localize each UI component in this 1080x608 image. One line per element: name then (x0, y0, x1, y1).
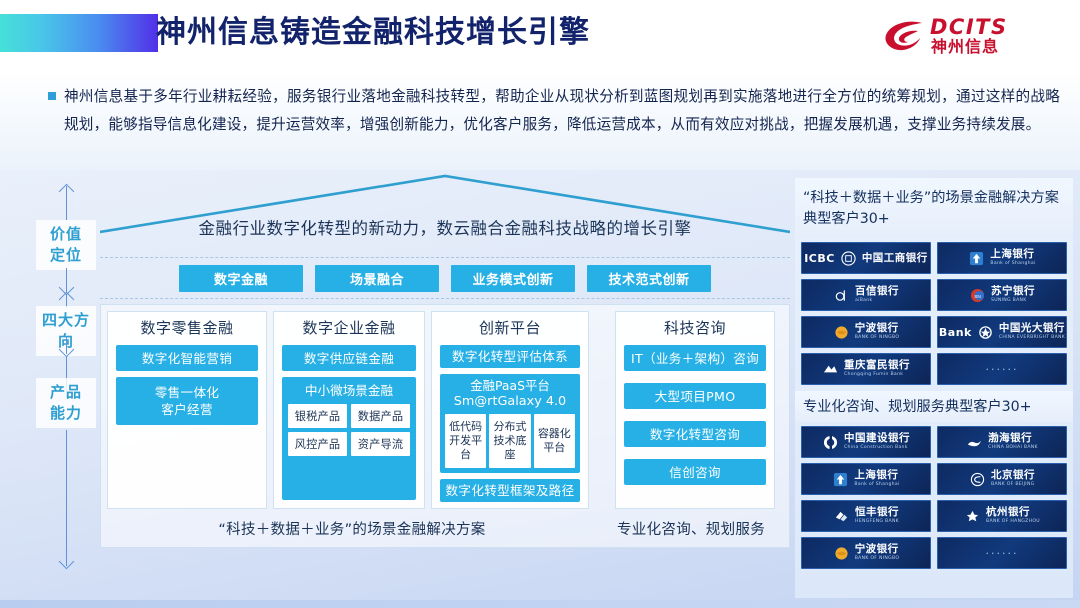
item-line-2: 客户经营 (161, 401, 213, 418)
logo-name-cn: 恒丰银行 (855, 507, 899, 518)
chip-tech-paradigm-innovation[interactable]: 技术范式创新 (587, 265, 711, 292)
paas-title-line1: 金融PaaS平台 (445, 378, 575, 394)
intro-paragraph: 神州信息基于多年行业耕耘经验，服务银行业落地金融科技转型，帮助企业从现状分析到蓝… (64, 83, 1060, 139)
bank-of-beijing-logo-icon (969, 471, 986, 488)
chip-scenario-fusion[interactable]: 场景融合 (315, 265, 439, 292)
value-proposition-band: 金融行业数字化转型的新动力，数云融合金融科技战略的增长引擎 (100, 196, 790, 258)
rail-label-value: 价值定位 (36, 220, 96, 270)
suning-bank-logo-icon: SN (969, 287, 986, 304)
customer-logo-ccb-logo-icon: 中国建设银行China Construction Bank (801, 426, 931, 458)
dcits-wordmark: DCITS (930, 16, 1008, 38)
logo-name-cn: 杭州银行 (986, 507, 1040, 518)
customer-logo-bohai-bank-logo-icon: 渤海银行CHINA BOHAI BANK (937, 426, 1067, 458)
logo-name-en: Chongqing Fumin Bank (844, 373, 910, 378)
logo-text-block: 宁波银行BANK OF NINGBO (855, 544, 900, 561)
logo-text-block: 中国工商银行 (862, 253, 928, 264)
main-diagram: 价值定位 四大方向 产品能力 金融行业数字化转型的新动力，数云融合金融科技战略的… (0, 170, 1080, 608)
dcits-logo: DCITS 神州信息 (882, 16, 1042, 60)
column-title: 数字企业金融 (282, 318, 416, 338)
customer-heading-1: “科技＋数据＋业务”的场景金融解决方案典型客户30+ (795, 178, 1073, 238)
direction-chip-row: 数字金融 场景融合 业务模式创新 技术范式创新 (100, 259, 790, 299)
ellipsis-icon: ······ (986, 363, 1019, 376)
bullet-icon (48, 92, 56, 100)
logo-name-cn: 百信银行 (855, 286, 899, 297)
caption-scenario-solution: “科技＋数据＋业务”的场景金融解决方案 (107, 513, 597, 543)
logo-text-block: 中国建设银行China Construction Bank (844, 433, 910, 450)
value-proposition-text: 金融行业数字化转型的新动力，数云融合金融科技战略的增长引擎 (199, 215, 692, 239)
chip-business-model-innovation[interactable]: 业务模式创新 (451, 265, 575, 292)
column-title: 数字零售金融 (116, 318, 258, 338)
logo-name-en: BANK OF NINGBO (855, 557, 900, 562)
logo-text-block: 中国光大银行CHINA EVERBRIGHT BANK (999, 323, 1065, 340)
item-transformation-consulting[interactable]: 数字化转型咨询 (624, 421, 766, 447)
customer-logo-ellipsis-icon: ······ (937, 353, 1067, 385)
logo-text-block: 恒丰银行HENGFENG BANK (855, 507, 899, 524)
customer-logo-bank-of-shanghai-logo-icon: 上海银行Bank of Shanghai (801, 463, 931, 495)
page-title: 神州信息铸造金融科技增长引擎 (156, 11, 590, 55)
group-title: 中小微场景金融 (288, 382, 410, 399)
capability-columns: 数字零售金融 数字化智能营销 零售一体化 客户经营 数字企业金融 数字供应链金融… (107, 311, 785, 509)
group-sme-scenario-finance: 中小微场景金融 银税产品 数据产品 风控产品 资产导流 (282, 377, 416, 500)
customer-logo-aibank-logo-icon: 百信银行aiBank (801, 279, 931, 311)
logo-name-en: BANK OF HANGZHOU (986, 520, 1040, 525)
customer-logo-bank-of-beijing-logo-icon: 北京银行BANK OF BEIJING (937, 463, 1067, 495)
customer-logo-suning-bank-logo-icon: SN苏宁银行SUNING BANK (937, 279, 1067, 311)
item-supply-chain-finance[interactable]: 数字供应链金融 (282, 345, 416, 371)
customer-logo-bank-of-ningbo-logo-icon: 宁波银行BANK OF NINGBO (801, 537, 931, 569)
item-tax-bank-product[interactable]: 银税产品 (288, 404, 347, 428)
logo-text-block: 北京银行BANK OF BEIJING (991, 470, 1035, 487)
capability-panel: 数字零售金融 数字化智能营销 零售一体化 客户经营 数字企业金融 数字供应链金融… (100, 304, 790, 548)
logo-name-en: HENGFENG BANK (855, 520, 899, 525)
logo-text-block: 上海银行Bank of Shanghai (990, 249, 1035, 266)
logo-name-cn: 北京银行 (991, 470, 1035, 481)
logo-name-en: China Construction Bank (844, 446, 910, 451)
logo-name-en: Bank of Shanghai (990, 262, 1035, 267)
logo-name-cn: 渤海银行 (988, 433, 1038, 444)
rail-label-capability: 产品能力 (36, 378, 96, 428)
logo-text-block: 宁波银行BANK OF NINGBO (855, 323, 900, 340)
chongqing-fumin-bank-logo-icon (822, 361, 839, 378)
customer-logo-everbright-bank-logo-icon: Bank中国光大银行CHINA EVERBRIGHT BANK (937, 316, 1067, 348)
everbright-bank-logo-icon (977, 324, 994, 341)
item-smart-marketing[interactable]: 数字化智能营销 (116, 345, 258, 371)
logo-name-cn: 中国光大银行 (999, 323, 1065, 334)
item-asset-routing[interactable]: 资产导流 (351, 432, 410, 456)
column-digital-retail-finance: 数字零售金融 数字化智能营销 零售一体化 客户经营 (107, 311, 267, 509)
item-it-consulting[interactable]: IT（业务＋架构）咨询 (624, 345, 766, 371)
ellipsis-icon: ······ (986, 547, 1019, 560)
customer-logo-chongqing-fumin-bank-logo-icon: 重庆富民银行Chongqing Fumin Bank (801, 353, 931, 385)
logo-name-en: aiBank (855, 299, 899, 304)
logo-text-block: 百信银行aiBank (855, 286, 899, 303)
column-innovation-platform: 创新平台 数字化转型评估体系 金融PaaS平台 Sm@rtGalaxy 4.0 … (431, 311, 589, 509)
hengfeng-bank-logo-icon (833, 508, 850, 525)
logo-name-cn: 中国工商银行 (862, 253, 928, 264)
logo-name-cn: 苏宁银行 (991, 286, 1035, 297)
item-distributed-base[interactable]: 分布式技术底座 (489, 414, 530, 468)
logo-text-block: 苏宁银行SUNING BANK (991, 286, 1035, 303)
column-title: 创新平台 (440, 318, 580, 338)
logo-text-block: 上海银行Bank of Shanghai (854, 470, 899, 487)
rail-arrow-up-1 (59, 184, 75, 200)
group-financial-paas: 金融PaaS平台 Sm@rtGalaxy 4.0 低代码开发平台 分布式技术底座… (440, 374, 580, 473)
logo-text-block: 重庆富民银行Chongqing Fumin Bank (844, 360, 910, 377)
column-digital-enterprise-finance: 数字企业金融 数字供应链金融 中小微场景金融 银税产品 数据产品 风控产品 资产… (273, 311, 425, 509)
logo-name-en: BANK OF BEIJING (991, 483, 1035, 488)
logo-name-cn: 宁波银行 (855, 544, 900, 555)
item-lowcode-platform[interactable]: 低代码开发平台 (445, 414, 486, 468)
intro-section: 神州信息基于多年行业耕耘经验，服务银行业落地金融科技转型，帮助企业从现状分析到蓝… (0, 72, 1080, 172)
logo-name-en: BANK OF NINGBO (855, 336, 900, 341)
bank-of-hangzhou-logo-icon (964, 508, 981, 525)
dcits-swirl-icon (882, 18, 926, 56)
capability-captions: “科技＋数据＋业务”的场景金融解决方案 专业化咨询、规划服务 (107, 513, 785, 543)
customer-heading-2: 专业化咨询、规划服务典型客户30+ (795, 391, 1073, 422)
item-container-platform[interactable]: 容器化平台 (534, 414, 575, 468)
rail-arrow-up-2 (59, 292, 75, 308)
customer-logo-grid-1: ICBC中国工商银行上海银行Bank of Shanghai百信银行aiBank… (795, 238, 1073, 391)
customer-logo-bank-of-ningbo-logo-icon: 宁波银行BANK OF NINGBO (801, 316, 931, 348)
paas-grid: 低代码开发平台 分布式技术底座 容器化平台 (445, 414, 575, 468)
logo-name-en: Bank of Shanghai (854, 483, 899, 488)
header-accent-bar (0, 14, 158, 52)
logo-prefix-text: ICBC (804, 252, 835, 265)
group-grid: 银税产品 数据产品 风控产品 资产导流 (288, 404, 410, 456)
item-xinchuang-consulting[interactable]: 信创咨询 (624, 459, 766, 485)
customer-logo-hengfeng-bank-logo-icon: 恒丰银行HENGFENG BANK (801, 500, 931, 532)
paas-title-line2: Sm@rtGalaxy 4.0 (445, 394, 575, 410)
ccb-logo-icon (822, 434, 839, 451)
logo-name-cn: 重庆富民银行 (844, 360, 910, 371)
item-transformation-assessment[interactable]: 数字化转型评估体系 (440, 345, 580, 368)
customer-logo-ellipsis-icon: ······ (937, 537, 1067, 569)
logo-text-block: 渤海银行CHINA BOHAI BANK (988, 433, 1038, 450)
logo-name-cn: 上海银行 (854, 470, 899, 481)
caption-consulting-service: 专业化咨询、规划服务 (597, 513, 785, 543)
column-spacer (595, 311, 609, 509)
bank-of-shanghai-logo-icon (832, 471, 849, 488)
aibank-logo-icon (833, 287, 850, 304)
logo-name-en: CHINA EVERBRIGHT BANK (999, 336, 1065, 341)
customer-logo-grid-2: 中国建设银行China Construction Bank渤海银行CHINA B… (795, 422, 1073, 575)
bank-of-ningbo-logo-icon (833, 545, 850, 562)
logo-name-en: CHINA BOHAI BANK (988, 446, 1038, 451)
customer-logo-bank-of-shanghai-logo-icon: 上海银行Bank of Shanghai (937, 242, 1067, 274)
item-large-project-pmo[interactable]: 大型项目PMO (624, 383, 766, 409)
logo-name-cn: 宁波银行 (855, 323, 900, 334)
logo-text-block: 杭州银行BANK OF HANGZHOU (986, 507, 1040, 524)
logo-name-cn: 中国建设银行 (844, 433, 910, 444)
customer-logo-bank-of-hangzhou-logo-icon: 杭州银行BANK OF HANGZHOU (937, 500, 1067, 532)
logo-name-en: SUNING BANK (991, 299, 1035, 304)
svg-text:SN: SN (974, 293, 981, 298)
axis-rail: 价值定位 四大方向 产品能力 (36, 182, 98, 582)
item-line-1: 零售一体化 (155, 384, 219, 401)
customer-panel: “科技＋数据＋业务”的场景金融解决方案典型客户30+ ICBC中国工商银行上海银… (795, 178, 1073, 598)
bank-of-ningbo-logo-icon (833, 324, 850, 341)
item-data-product[interactable]: 数据产品 (351, 404, 410, 428)
rail-arrow-down-3 (59, 554, 75, 570)
chip-digital-finance[interactable]: 数字金融 (179, 265, 303, 292)
bottom-strip (0, 600, 1080, 608)
dcits-wordmark-cn: 神州信息 (931, 37, 999, 57)
item-risk-control-product[interactable]: 风控产品 (288, 432, 347, 456)
customer-logo-icbc-logo-icon: ICBC中国工商银行 (801, 242, 931, 274)
page-header: 神州信息铸造金融科技增长引擎 DCITS 神州信息 (0, 0, 1080, 72)
column-title: 科技咨询 (624, 318, 766, 338)
item-retail-integration[interactable]: 零售一体化 客户经营 (116, 377, 258, 425)
logo-prefix-text: Bank (939, 326, 972, 339)
column-tech-consulting: 科技咨询 IT（业务＋架构）咨询 大型项目PMO 数字化转型咨询 信创咨询 (615, 311, 775, 509)
bohai-bank-logo-icon (966, 434, 983, 451)
bank-of-shanghai-logo-icon (968, 250, 985, 267)
icbc-logo-icon (840, 250, 857, 267)
logo-name-cn: 上海银行 (990, 249, 1035, 260)
item-transformation-framework[interactable]: 数字化转型框架及路径 (440, 479, 580, 502)
rail-line-6 (66, 430, 67, 566)
